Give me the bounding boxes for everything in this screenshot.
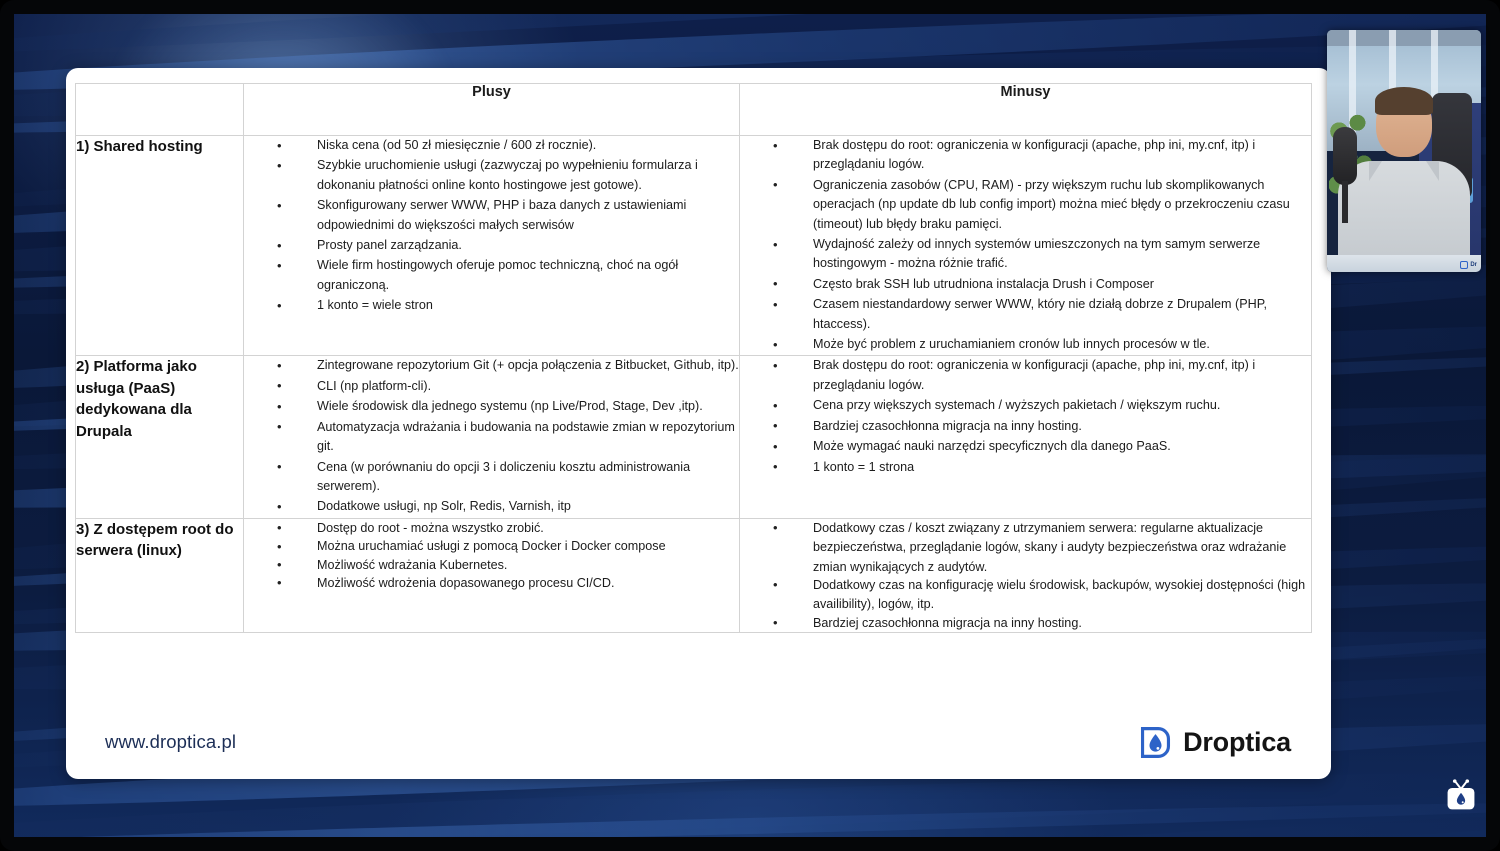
shirt-collar-right: [1426, 161, 1439, 181]
shirt-collar-left: [1369, 161, 1382, 181]
list-item: Dostęp do root - można wszystko zrobić.: [244, 519, 739, 538]
list-item: Cena (w porównaniu do opcji 3 i doliczen…: [244, 458, 739, 497]
cell-minusy: Dodatkowy czas / koszt związany z utrzym…: [740, 518, 1312, 632]
desk-surface: Dr: [1327, 255, 1481, 272]
slide-footer: www.droptica.pl Droptica: [66, 717, 1331, 779]
list-item: Automatyzacja wdrażania i budowania na p…: [244, 418, 739, 457]
droptica-tv-badge-icon[interactable]: [1443, 779, 1479, 813]
cell-minusy: Brak dostępu do root: ograniczenia w kon…: [740, 356, 1312, 518]
list-item: Można uruchamiać usługi z pomocą Docker …: [244, 537, 739, 556]
list-item: Prosty panel zarządzania.: [244, 236, 739, 255]
list-item: Wydajność zależy od innych systemów umie…: [740, 235, 1311, 274]
list-item: Może wymagać nauki narzędzi specyficznyc…: [740, 437, 1311, 456]
header-minusy: Minusy: [740, 84, 1312, 136]
row-label-cell: 3) Z dostępem root do serwera (linux): [76, 518, 244, 632]
list-item: Bardziej czasochłonna migracja na inny h…: [740, 417, 1311, 436]
table-row: 3) Z dostępem root do serwera (linux)Dos…: [76, 518, 1312, 632]
list-item: Często brak SSH lub utrudniona instalacj…: [740, 275, 1311, 294]
list-item: Zintegrowane repozytorium Git (+ opcja p…: [244, 356, 739, 375]
studio-microphone: [1329, 127, 1363, 238]
cell-plusy: Dostęp do root - można wszystko zrobić.M…: [244, 518, 740, 632]
list-item: Skonfigurowany serwer WWW, PHP i baza da…: [244, 196, 739, 235]
list-item: Brak dostępu do root: ograniczenia w kon…: [740, 136, 1311, 175]
table-header-row: Plusy Minusy: [76, 84, 1312, 136]
video-player-frame: Plusy Minusy 1) Shared hostingNiska cena…: [0, 0, 1500, 851]
cell-plusy: Zintegrowane repozytorium Git (+ opcja p…: [244, 356, 740, 518]
list-item: Brak dostępu do root: ograniczenia w kon…: [740, 356, 1311, 395]
droptica-drop-logo-icon: [1137, 724, 1174, 761]
slide-card: Plusy Minusy 1) Shared hostingNiska cena…: [66, 68, 1331, 779]
list-item: Może być problem z uruchamianiem cronów …: [740, 335, 1311, 354]
list-item: Możliwość wdrożenia dopasowanego procesu…: [244, 574, 739, 593]
list-item: Dodatkowy czas / koszt związany z utrzym…: [740, 519, 1311, 577]
list-item: Cena przy większych systemach / wyższych…: [740, 396, 1311, 415]
list-item: 1 konto = wiele stron: [244, 296, 739, 315]
list-item: Dodatkowe usługi, np Solr, Redis, Varnis…: [244, 497, 739, 516]
list-item: Bardziej czasochłonna migracja na inny h…: [740, 614, 1311, 633]
list-item: Szybkie uruchomienie usługi (zazwyczaj p…: [244, 156, 739, 195]
list-item: Dodatkowy czas na konfigurację wielu śro…: [740, 576, 1311, 615]
table-row: 2) Platforma jako usługa (PaaS) dedykowa…: [76, 356, 1312, 518]
comparison-table: Plusy Minusy 1) Shared hostingNiska cena…: [75, 83, 1312, 633]
list-item: CLI (np platform-cli).: [244, 377, 739, 396]
presenter-webcam-pip[interactable]: Dr: [1327, 30, 1481, 272]
list-item: Wiele firm hostingowych oferuje pomoc te…: [244, 256, 739, 295]
website-url: www.droptica.pl: [105, 731, 236, 753]
header-blank: [76, 84, 244, 136]
presenter-hair: [1375, 87, 1433, 115]
list-item: Wiele środowisk dla jednego systemu (np …: [244, 397, 739, 416]
list-item: Czasem niestandardowy serwer WWW, który …: [740, 295, 1311, 334]
desk-logo-icon: Dr: [1460, 261, 1477, 269]
brand-lockup: Droptica: [1137, 724, 1291, 761]
header-plusy: Plusy: [244, 84, 740, 136]
cell-minusy: Brak dostępu do root: ograniczenia w kon…: [740, 136, 1312, 356]
row-label-cell: 1) Shared hosting: [76, 136, 244, 356]
list-item: 1 konto = 1 strona: [740, 458, 1311, 477]
brand-name: Droptica: [1183, 727, 1291, 758]
list-item: Możliwość wdrażania Kubernetes.: [244, 556, 739, 575]
list-item: Niska cena (od 50 zł miesięcznie / 600 z…: [244, 136, 739, 155]
table-row: 1) Shared hostingNiska cena (od 50 zł mi…: [76, 136, 1312, 356]
list-item: Ograniczenia zasobów (CPU, RAM) - przy w…: [740, 176, 1311, 234]
cell-plusy: Niska cena (od 50 zł miesięcznie / 600 z…: [244, 136, 740, 356]
row-label-cell: 2) Platforma jako usługa (PaaS) dedykowa…: [76, 356, 244, 518]
